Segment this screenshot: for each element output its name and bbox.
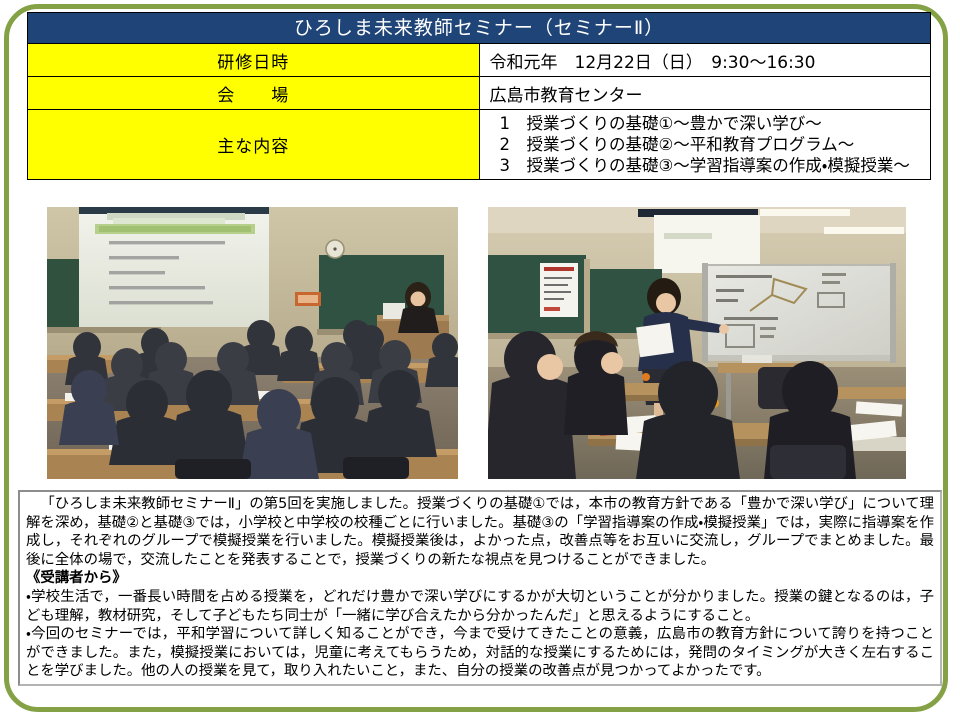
table-row: 主な内容 1 授業づくりの基礎①～豊かで深い学び～ 2 授業づくりの基礎②～平和… [28,110,931,180]
lecture-hall-photo [47,207,458,479]
page-title: ひろしま未来教師セミナー（セミナーⅡ） [28,13,931,44]
value-training-datetime: 令和元年 12月22日（日） 9:30～16:30 [479,44,931,77]
value-main-contents: 1 授業づくりの基礎①～豊かで深い学び～ 2 授業づくりの基礎②～平和教育プログ… [479,110,931,180]
main-contents-list: 1 授業づくりの基礎①～豊かで深い学び～ 2 授業づくりの基礎②～平和教育プログ… [490,110,931,179]
list-item: 1 授業づくりの基礎①～豊かで深い学び～ [500,113,931,134]
label-venue: 会 場 [28,77,480,110]
label-training-datetime: 研修日時 [28,44,480,77]
value-venue: 広島市教育センター [479,77,931,110]
table-row: 研修日時 令和元年 12月22日（日） 9:30～16:30 [28,44,931,77]
title-row: ひろしま未来教師セミナー（セミナーⅡ） [28,13,931,44]
participant-voice: ・学校生活で，一番長い時間を占める授業を，どれだけ豊かで深い学びにするかが大切と… [26,588,934,625]
label-main-contents: 主な内容 [28,110,480,180]
table-row: 会 場 広島市教育センター [28,77,931,110]
mock-lesson-photo [488,207,906,479]
mock-lesson-image [488,207,906,479]
lecture-hall-image [47,207,458,479]
list-item: 3 授業づくりの基礎③～学習指導案の作成・模擬授業～ [500,155,931,176]
report-summary: 「ひろしま未来教師セミナーⅡ」の第5回を実施しました。授業づくりの基礎①では，本… [26,495,934,569]
seminar-info-table: ひろしま未来教師セミナー（セミナーⅡ） 研修日時 令和元年 12月22日（日） … [27,12,931,180]
list-item: 2 授業づくりの基礎②～平和教育プログラム～ [500,134,931,155]
participant-voice: ・今回のセミナーでは，平和学習について詳しく知ることができ，今まで受けてきたこと… [26,625,934,681]
report-text-box: 「ひろしま未来教師セミナーⅡ」の第5回を実施しました。授業づくりの基礎①では，本… [18,490,942,686]
document-page: ひろしま未来教師セミナー（セミナーⅡ） 研修日時 令和元年 12月22日（日） … [0,0,960,720]
participant-voices-heading: 《受講者から》 [26,569,934,588]
